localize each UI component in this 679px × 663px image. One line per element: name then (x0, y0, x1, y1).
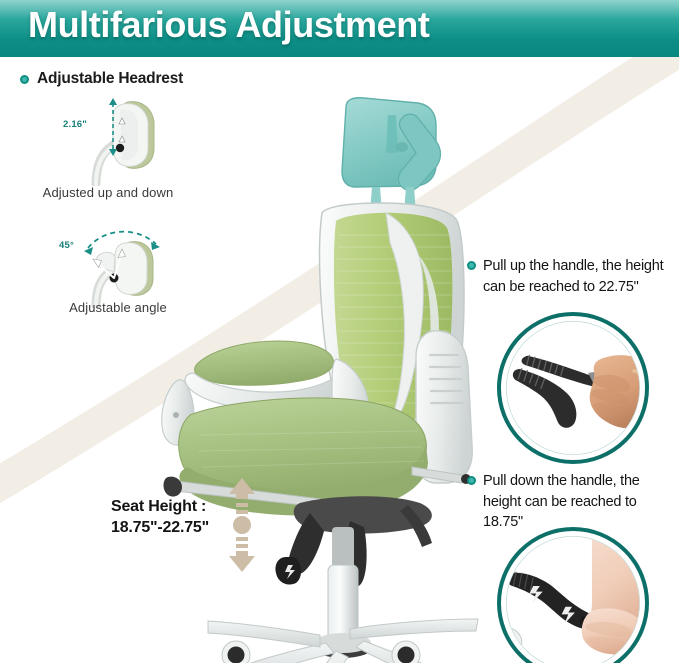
gas-cylinder (328, 527, 358, 643)
right-caption-pull-down-text: Pull down the handle, the height can be … (483, 471, 679, 533)
headrest-angle-caption: Adjustable angle (28, 300, 208, 315)
ergonomic-office-chair-photo (150, 95, 510, 663)
pull-up-lever-illustration (501, 316, 645, 460)
teal-bullet-icon (467, 476, 476, 485)
vertical-double-arrow-icon (224, 478, 260, 572)
seat-height-block: Seat Height : 18.75"-22.75" (111, 498, 209, 537)
hand-pulling-up-lever-photo (497, 312, 649, 464)
headrest-up-down-caption: Adjusted up and down (18, 185, 198, 200)
caster-wheel (222, 641, 250, 663)
headrest-angle-dimension-label: 45° (59, 240, 74, 251)
left-heading-label: Adjustable Headrest (37, 70, 183, 88)
teal-bullet-icon (20, 75, 29, 84)
caster-wheel (392, 641, 420, 663)
right-caption-pull-up-text: Pull up the handle, the height can be re… (483, 256, 679, 297)
headrest-up-down-icon (78, 96, 168, 186)
infographic-root: Multifarious Adjustment (0, 0, 679, 663)
headrest-angle-icon (70, 222, 175, 308)
chair-headrest (342, 98, 441, 213)
page-banner: Multifarious Adjustment (0, 0, 679, 57)
push-down-lever-illustration (501, 531, 645, 663)
hand-pushing-down-lever-photo (497, 527, 649, 663)
seat-height-value: 18.75"-22.75" (111, 519, 209, 537)
teal-bullet-icon (467, 261, 476, 270)
seat-height-label: Seat Height : (111, 498, 209, 516)
right-caption-pull-up: Pull up the handle, the height can be re… (467, 256, 679, 297)
page-title: Multifarious Adjustment (28, 4, 429, 46)
left-section-heading: Adjustable Headrest (20, 70, 183, 88)
right-caption-pull-down: Pull down the handle, the height can be … (467, 471, 679, 533)
headrest-travel-dimension-label: 2.16" (63, 119, 87, 130)
